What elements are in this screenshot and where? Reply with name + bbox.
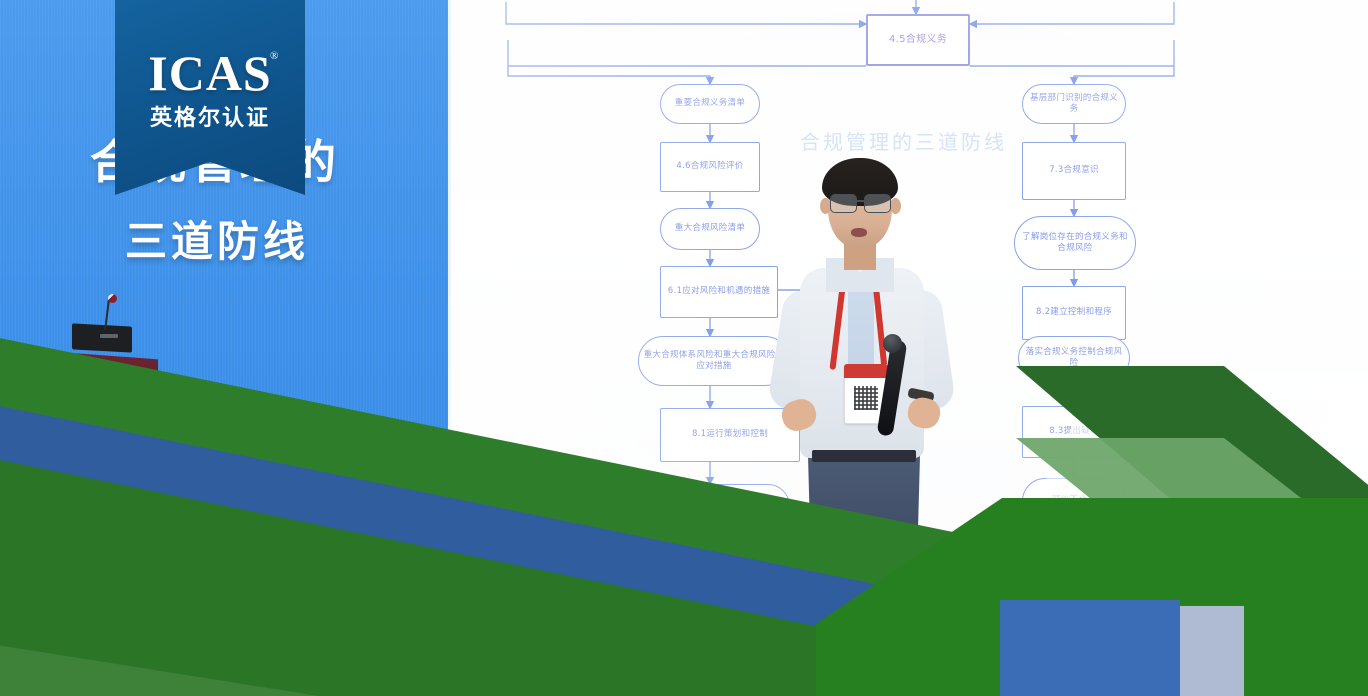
flow-node-7-3: 7.3合规意识 (1022, 142, 1126, 200)
conference-photo-stage: 合规管理的三道防线 4.5合规义务 重要合规义务清单 4.6合规风险评价 重大合… (0, 0, 1368, 696)
speaker-mouth (851, 228, 867, 237)
eyeglasses-lens-right (864, 194, 891, 213)
flow-node-know-post-obligations: 了解岗位存在的合规义务和合规风险 (1014, 216, 1136, 270)
podium-console (72, 323, 132, 352)
headline-line-bottom: 三道防线 (125, 208, 425, 269)
speaker-belt (812, 450, 916, 462)
flow-node-important-obligations-list: 重要合规义务清单 (660, 84, 760, 124)
eyeglasses-bridge (855, 200, 864, 202)
flow-node-dept-obligations: 基层部门识别的合规义务 (1022, 84, 1126, 124)
overlay-panel-blue (1000, 600, 1180, 696)
badge-header-band (844, 364, 888, 378)
flow-node-4-5: 4.5合规义务 (866, 14, 970, 66)
icas-chinese-name: 英格尔认证 (115, 100, 305, 132)
registered-trademark-icon: ® (270, 50, 278, 62)
eyeglasses-lens-left (830, 194, 857, 213)
flow-node-4-6: 4.6合规风险评价 (660, 142, 760, 192)
podium-microphone-head (108, 294, 117, 303)
badge-qr-code (854, 386, 878, 410)
podium-nameplate (100, 334, 118, 338)
speaker-ear-right (890, 198, 901, 214)
flow-node-major-risk-list: 重大合规风险清单 (660, 208, 760, 250)
